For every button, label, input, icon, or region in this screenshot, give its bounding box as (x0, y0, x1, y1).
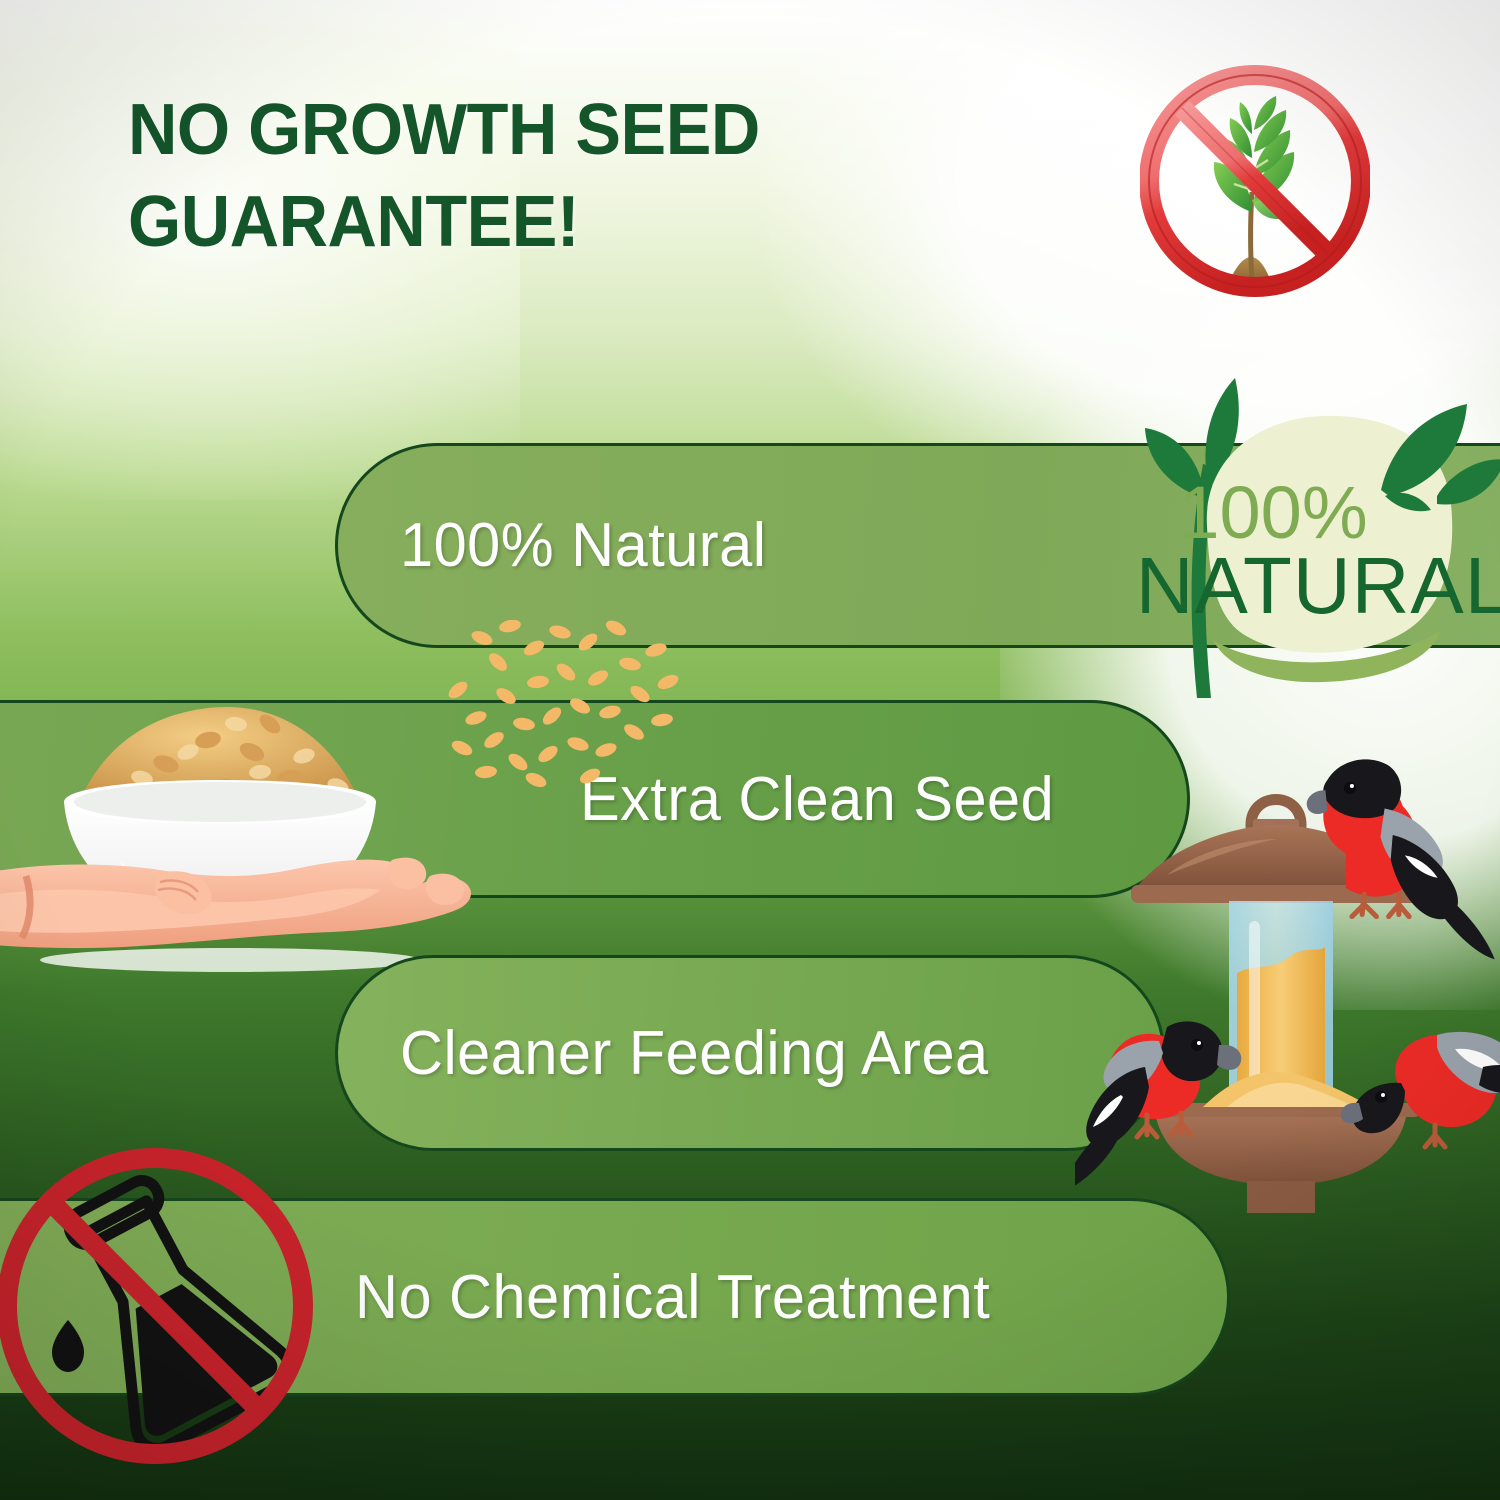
feature-pill-feeding-area[interactable]: Cleaner Feeding Area (335, 955, 1165, 1151)
falling-seeds-icon (440, 620, 690, 790)
no-chemical-flask-prohibition-icon (0, 1138, 320, 1468)
feature-label-feeding-area: Cleaner Feeding Area (400, 1018, 989, 1089)
badge-word: NATURAL (1136, 541, 1500, 630)
feature-label-no-chemical: No Chemical Treatment (355, 1262, 990, 1333)
no-plant-prohibition-icon (1140, 52, 1370, 310)
page-title: NO GROWTH SEED GUARANTEE! (128, 84, 983, 268)
bird-feeder-icon (1075, 725, 1500, 1220)
feature-label-natural: 100% Natural (400, 510, 766, 581)
bird-right (1341, 1032, 1500, 1147)
natural-badge: 100% NATURAL (1085, 368, 1500, 698)
infographic-canvas: NO GROWTH SEED GUARANTEE! (0, 0, 1500, 1500)
